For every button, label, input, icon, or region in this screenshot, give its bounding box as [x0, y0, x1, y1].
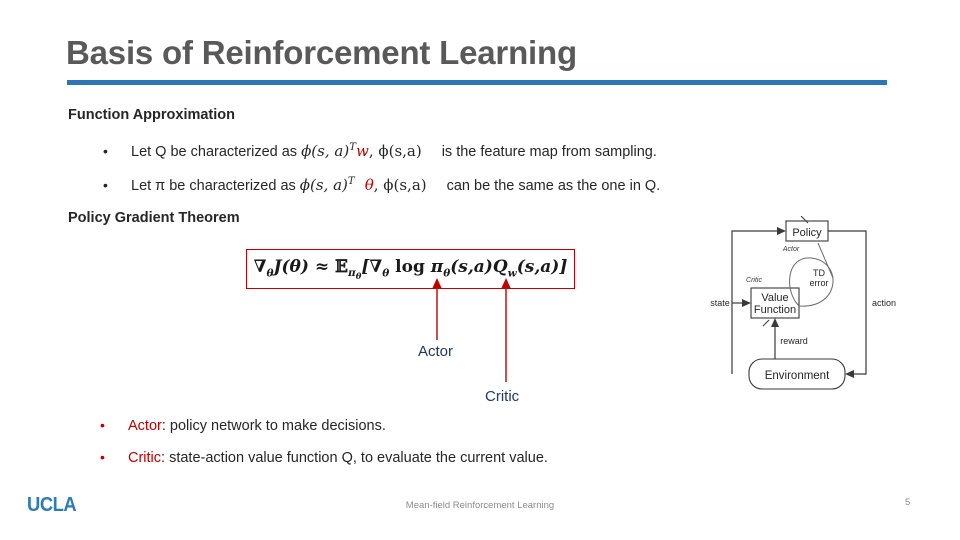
list-item: • Let π be characterized as ϕ(s, a)Tθ, ϕ…	[103, 176, 660, 194]
diagram-label-policy: Policy	[792, 227, 822, 239]
diagram-label-actor: Actor	[782, 246, 800, 253]
bullet-text-suffix: is the feature map from sampling.	[442, 144, 657, 160]
policy-gradient-formula-box: ∇θJ(θ) ≈ 𝔼πθ[∇θ log πθ(s,a)Qw(s,a)]	[246, 249, 575, 289]
title-underline-rule	[67, 80, 887, 85]
diagram-label-value-function-line2: Function	[754, 304, 796, 316]
actor-critic-diagram: Policy Value Function Environment Actor …	[706, 216, 906, 402]
math-expression: ϕ(s, a)Tw, ϕ(s,a)	[301, 142, 422, 160]
list-item: • Critic: state-action value function Q,…	[100, 450, 548, 466]
diagram-label-environment: Environment	[765, 370, 830, 382]
math-red-variable-w: w	[356, 142, 369, 160]
bullet-marker: •	[103, 144, 131, 158]
diagram-label-value-function-line1: Value	[761, 292, 788, 304]
slide-page-number: 5	[905, 497, 910, 508]
definition-term-critic: Critic	[128, 450, 161, 466]
math-red-variable-theta: θ	[365, 176, 374, 194]
section-heading-policy-gradient: Policy Gradient Theorem	[68, 210, 240, 226]
page-title: Basis of Reinforcement Learning	[66, 34, 577, 72]
bullet-marker: •	[103, 178, 131, 192]
annotation-arrow-critic	[500, 278, 512, 382]
diagram-label-td-error-line2: error	[809, 278, 828, 288]
policy-gradient-formula: ∇θJ(θ) ≈ 𝔼πθ[∇θ log πθ(s,a)Qw(s,a)]	[254, 257, 568, 282]
definition-term-actor: Actor	[128, 418, 162, 434]
footer-presentation-title: Mean-field Reinforcement Learning	[0, 500, 960, 511]
diagram-label-td-error-line1: TD	[813, 268, 825, 278]
list-item: • Actor: policy network to make decision…	[100, 418, 386, 434]
bullet-marker: •	[100, 450, 128, 464]
definition-body-critic: : state-action value function Q, to eval…	[161, 450, 548, 466]
annotation-label-actor: Actor	[418, 343, 453, 360]
list-item: • Let Q be characterized as ϕ(s, a)Tw, ϕ…	[103, 142, 657, 160]
annotation-label-critic: Critic	[485, 388, 519, 405]
math-expression: ϕ(s, a)Tθ, ϕ(s,a)	[300, 176, 427, 194]
section-heading-function-approximation: Function Approximation	[68, 107, 235, 123]
diagram-label-critic: Critic	[746, 277, 762, 284]
annotation-arrow-actor	[431, 278, 443, 340]
diagram-label-state: state	[710, 298, 730, 308]
diagram-label-action: action	[872, 298, 896, 308]
diagram-label-reward: reward	[780, 336, 808, 346]
definition-body-actor: : policy network to make decisions.	[162, 418, 386, 434]
bullet-marker: •	[100, 418, 128, 432]
bullet-text-prefix: Let π be characterized as	[131, 178, 300, 194]
bullet-text-suffix: can be the same as the one in Q.	[447, 178, 661, 194]
bullet-text-prefix: Let Q be characterized as	[131, 144, 301, 160]
